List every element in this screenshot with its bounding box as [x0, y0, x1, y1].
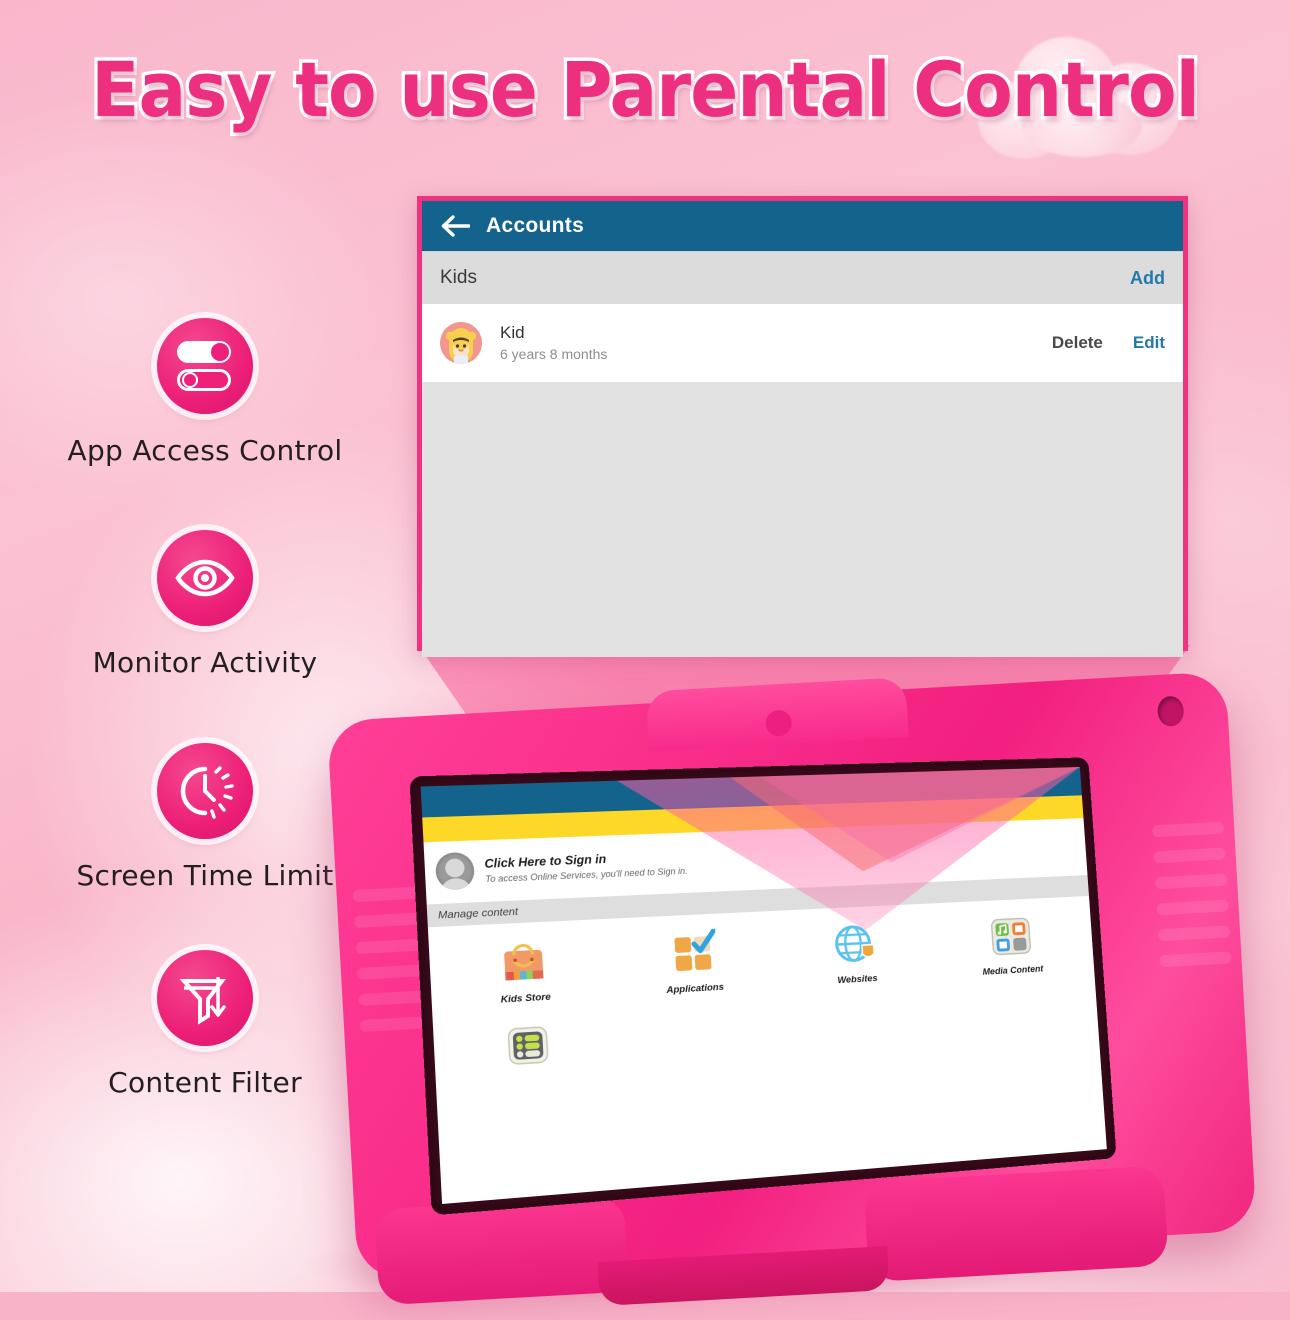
back-arrow-icon[interactable] [440, 215, 470, 237]
tile-media-content[interactable]: Media Content [932, 906, 1089, 981]
applications-icon [608, 921, 777, 986]
delete-account-button[interactable]: Delete [1052, 333, 1103, 353]
tile-settings-list[interactable] [439, 1012, 616, 1083]
websites-icon [773, 913, 935, 977]
eye-icon [157, 530, 253, 626]
feature-monitor-activity: Monitor Activity [25, 530, 385, 679]
add-account-button[interactable]: Add [1130, 268, 1165, 289]
panel-header: Accounts [422, 201, 1183, 251]
accounts-panel: Accounts Kids Add Kid 6 years 8 months [417, 196, 1188, 651]
funnel-filter-icon [157, 950, 253, 1046]
tile-applications[interactable]: Applications [608, 921, 778, 999]
tile-websites[interactable]: Websites [773, 913, 936, 989]
tile-kids-store[interactable]: Kids Store [435, 929, 612, 1009]
account-name: Kid [500, 322, 1052, 345]
user-avatar-icon [435, 852, 475, 891]
tablet-screen-title: Parental Control [457, 790, 564, 809]
panel-title: Accounts [486, 214, 584, 238]
back-arrow-icon[interactable] [431, 794, 450, 808]
timer-icon [157, 743, 253, 839]
tablet-bezel: Parental Control Upgrade to Premium Clic… [409, 757, 1116, 1215]
kids-store-icon [435, 929, 611, 996]
table-row[interactable]: Kid 6 years 8 months Delete Edit [422, 304, 1183, 382]
tablet-screen: Parental Control Upgrade to Premium Clic… [421, 767, 1107, 1204]
feature-app-access-control: App Access Control [25, 318, 385, 467]
edit-account-button[interactable]: Edit [1133, 333, 1165, 353]
kids-section-label: Kids [440, 267, 477, 289]
media-content-icon [932, 906, 1088, 968]
toggle-switches-icon [157, 318, 253, 414]
feature-label: Content Filter [25, 1066, 385, 1099]
case-foot-right [863, 1165, 1168, 1282]
panel-empty-area [422, 382, 1183, 657]
manage-content-grid: Kids Store Applications [428, 896, 1100, 1096]
tablet-device: Parental Control Upgrade to Premium Clic… [315, 639, 1290, 1318]
account-info: Kid 6 years 8 months [500, 322, 1052, 364]
case-foot-left [374, 1196, 629, 1306]
account-age: 6 years 8 months [500, 345, 1052, 364]
page-title: Easy to use Parental Control [45, 52, 1245, 128]
feature-label: Monitor Activity [25, 646, 385, 679]
avatar [440, 322, 482, 364]
kids-section-bar: Kids Add [422, 251, 1183, 304]
settings-list-icon [439, 1012, 616, 1081]
feature-label: App Access Control [25, 434, 385, 467]
